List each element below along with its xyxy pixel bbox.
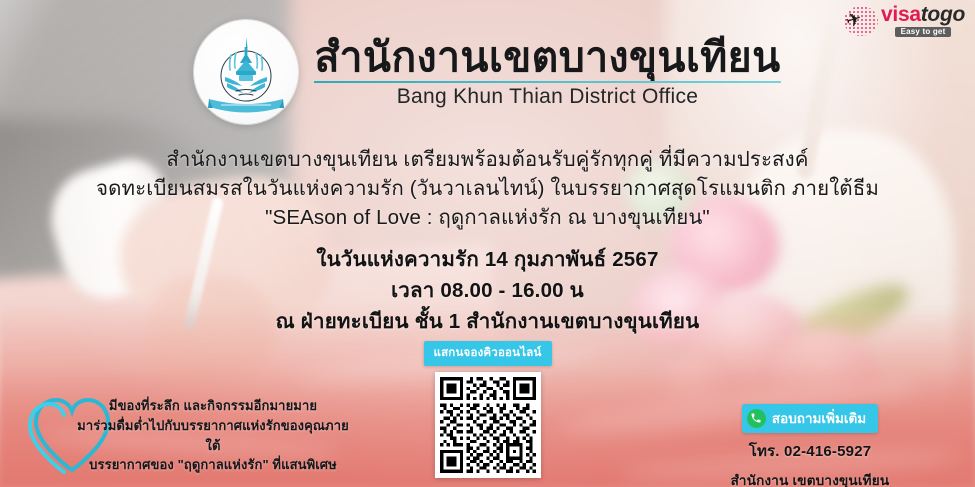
body-paragraph: สำนักงานเขตบางขุนเทียน เตรียมพร้อมต้อนรั… [0,145,975,232]
event-date: ในวันแห่งความรัก 14 กุมภาพันธ์ 2567 [0,245,975,276]
qr-block: แสกนจองคิวออนไลน์ [423,341,551,478]
promo-line: มาร่วมดื่มด่ำไปกับบรรยากาศแห่งรักของคุณภ… [72,416,354,456]
promo-block: มีของที่ระลึก และกิจกรรมอีกมายมาย มาร่วม… [26,392,356,478]
title-divider [314,81,780,83]
district-office-seal-icon [194,20,298,124]
event-time: เวลา 08.00 - 16.00 น [0,276,975,307]
promo-line: มีของที่ระลึก และกิจกรรมอีกมายมาย [72,396,354,416]
poster: ✈ visatogo Easy to get [0,0,975,487]
body-line: สำนักงานเขตบางขุนเทียน เตรียมพร้อมต้อนรั… [0,145,975,174]
event-location: ณ ฝ่ายทะเบียน ชั้น 1 สำนักงานเขตบางขุนเท… [0,307,975,338]
phone-icon [747,409,766,428]
event-details: ในวันแห่งความรัก 14 กุมภาพันธ์ 2567 เวลา… [0,245,975,337]
page-title-en: Bang Khun Thian District Office [314,85,780,109]
page-title-th: สำนักงานเขตบางขุนเทียน [314,35,780,81]
header-titles: สำนักงานเขตบางขุนเทียน Bang Khun Thian D… [314,35,780,110]
contact-badge[interactable]: สอบถามเพิ่มเติม [742,404,878,433]
contact-badge-label: สอบถามเพิ่มเติม [772,407,866,429]
qr-code-icon[interactable] [434,372,540,478]
contact-office: สำนักงาน เขตบางขุนเทียน [731,469,890,487]
body-line: "SEAson of Love : ฤดูกาลแห่งรัก ณ บางขุน… [0,203,975,232]
promo-text: มีของที่ระลึก และกิจกรรมอีกมายมาย มาร่วม… [72,396,354,475]
header: สำนักงานเขตบางขุนเทียน Bang Khun Thian D… [0,20,975,124]
contact-phone: โทร. 02-416-5927 [749,439,872,463]
contact-block: สอบถามเพิ่มเติม โทร. 02-416-5927 สำนักงา… [645,404,975,487]
qr-badge-label: แสกนจองคิวออนไลน์ [423,341,551,366]
body-line: จดทะเบียนสมรสในวันแห่งความรัก (วันวาเลนไ… [0,174,975,203]
promo-line: บรรยากาศของ "ฤดูกาลแห่งรัก" ที่แสนพิเศษ [72,455,354,475]
poster-content: ✈ visatogo Easy to get [0,0,975,487]
